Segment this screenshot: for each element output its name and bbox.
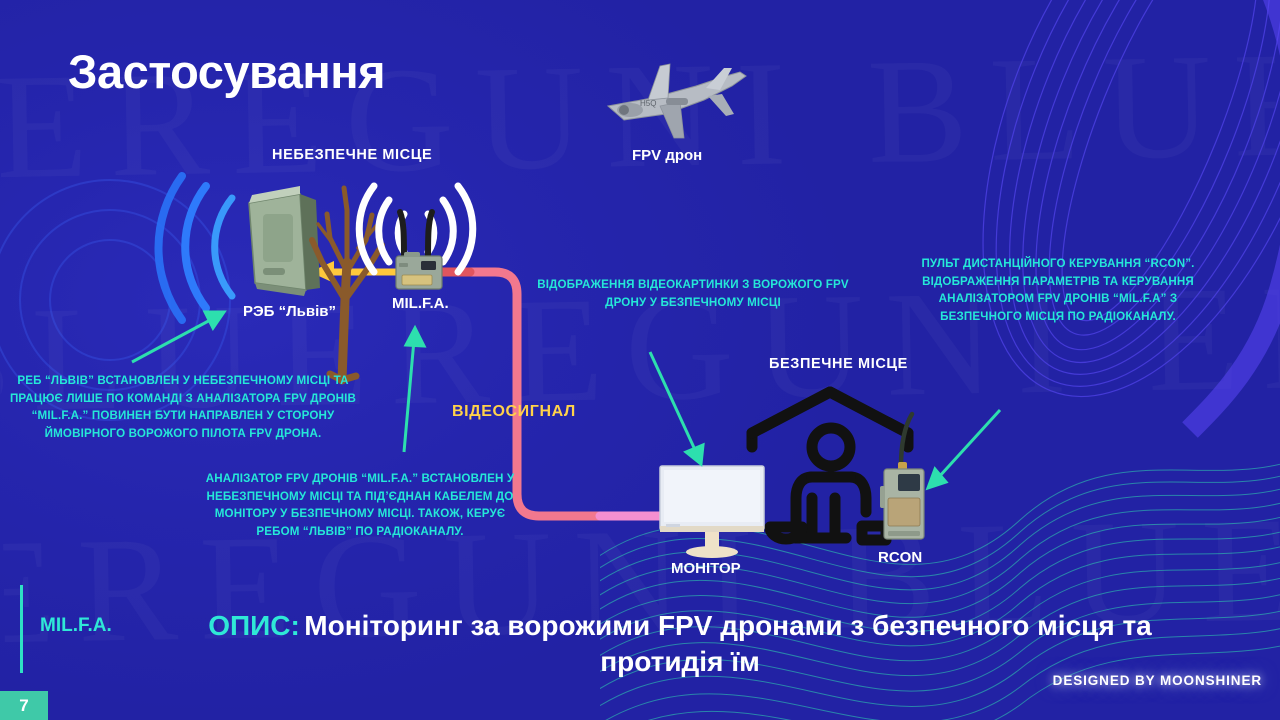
label-video-signal: ВІДЕОСИГНАЛ xyxy=(452,403,576,421)
zone-label-safe: БЕЗПЕЧНЕ МІСЦЕ xyxy=(769,356,908,372)
designed-by-credit: DESIGNED BY MOONSHINER xyxy=(1053,673,1262,688)
page-title: Застосування xyxy=(68,44,385,99)
info-block-video: ВІДОБРАЖЕННЯ ВІДЕОКАРТИНКИ З ВОРОЖОГО FP… xyxy=(532,276,854,311)
brand-name: MIL.F.A. xyxy=(40,615,112,637)
description-block: ОПИС: Моніторинг за ворожими FPV дронами… xyxy=(180,608,1180,681)
caption-fpv-drone: FPV дрон xyxy=(632,147,702,164)
description-lead: ОПИС: xyxy=(208,610,300,641)
page-number-badge: 7 xyxy=(0,691,48,720)
caption-monitor: МОНІТОР xyxy=(671,560,741,577)
info-block-reb: РЕБ “ЛЬВІВ” ВСТАНОВЛЕН У НЕБЕЗПЕЧНОМУ МІ… xyxy=(8,372,358,442)
info-block-rcon: ПУЛЬТ ДИСТАНЦІЙНОГО КЕРУВАННЯ “RCON”. ВІ… xyxy=(898,255,1218,325)
caption-rcon: RCON xyxy=(878,549,922,566)
slide-canvas: EREGUNI BLUEREGUNI BLUEREGUNI ERE EREGUN… xyxy=(0,0,1280,720)
caption-milfa: MIL.F.A. xyxy=(392,295,449,312)
zone-label-danger: НЕБЕЗПЕЧНЕ МІСЦЕ xyxy=(272,147,432,163)
brand-divider xyxy=(20,585,23,673)
info-block-milfa: АНАЛІЗАТОР FPV ДРОНІВ “MIL.F.A.” ВСТАНОВ… xyxy=(205,470,515,540)
caption-reb-lviv: РЭБ “Львів” xyxy=(243,303,336,320)
description-body: Моніторинг за ворожими FPV дронами з без… xyxy=(304,610,1152,677)
